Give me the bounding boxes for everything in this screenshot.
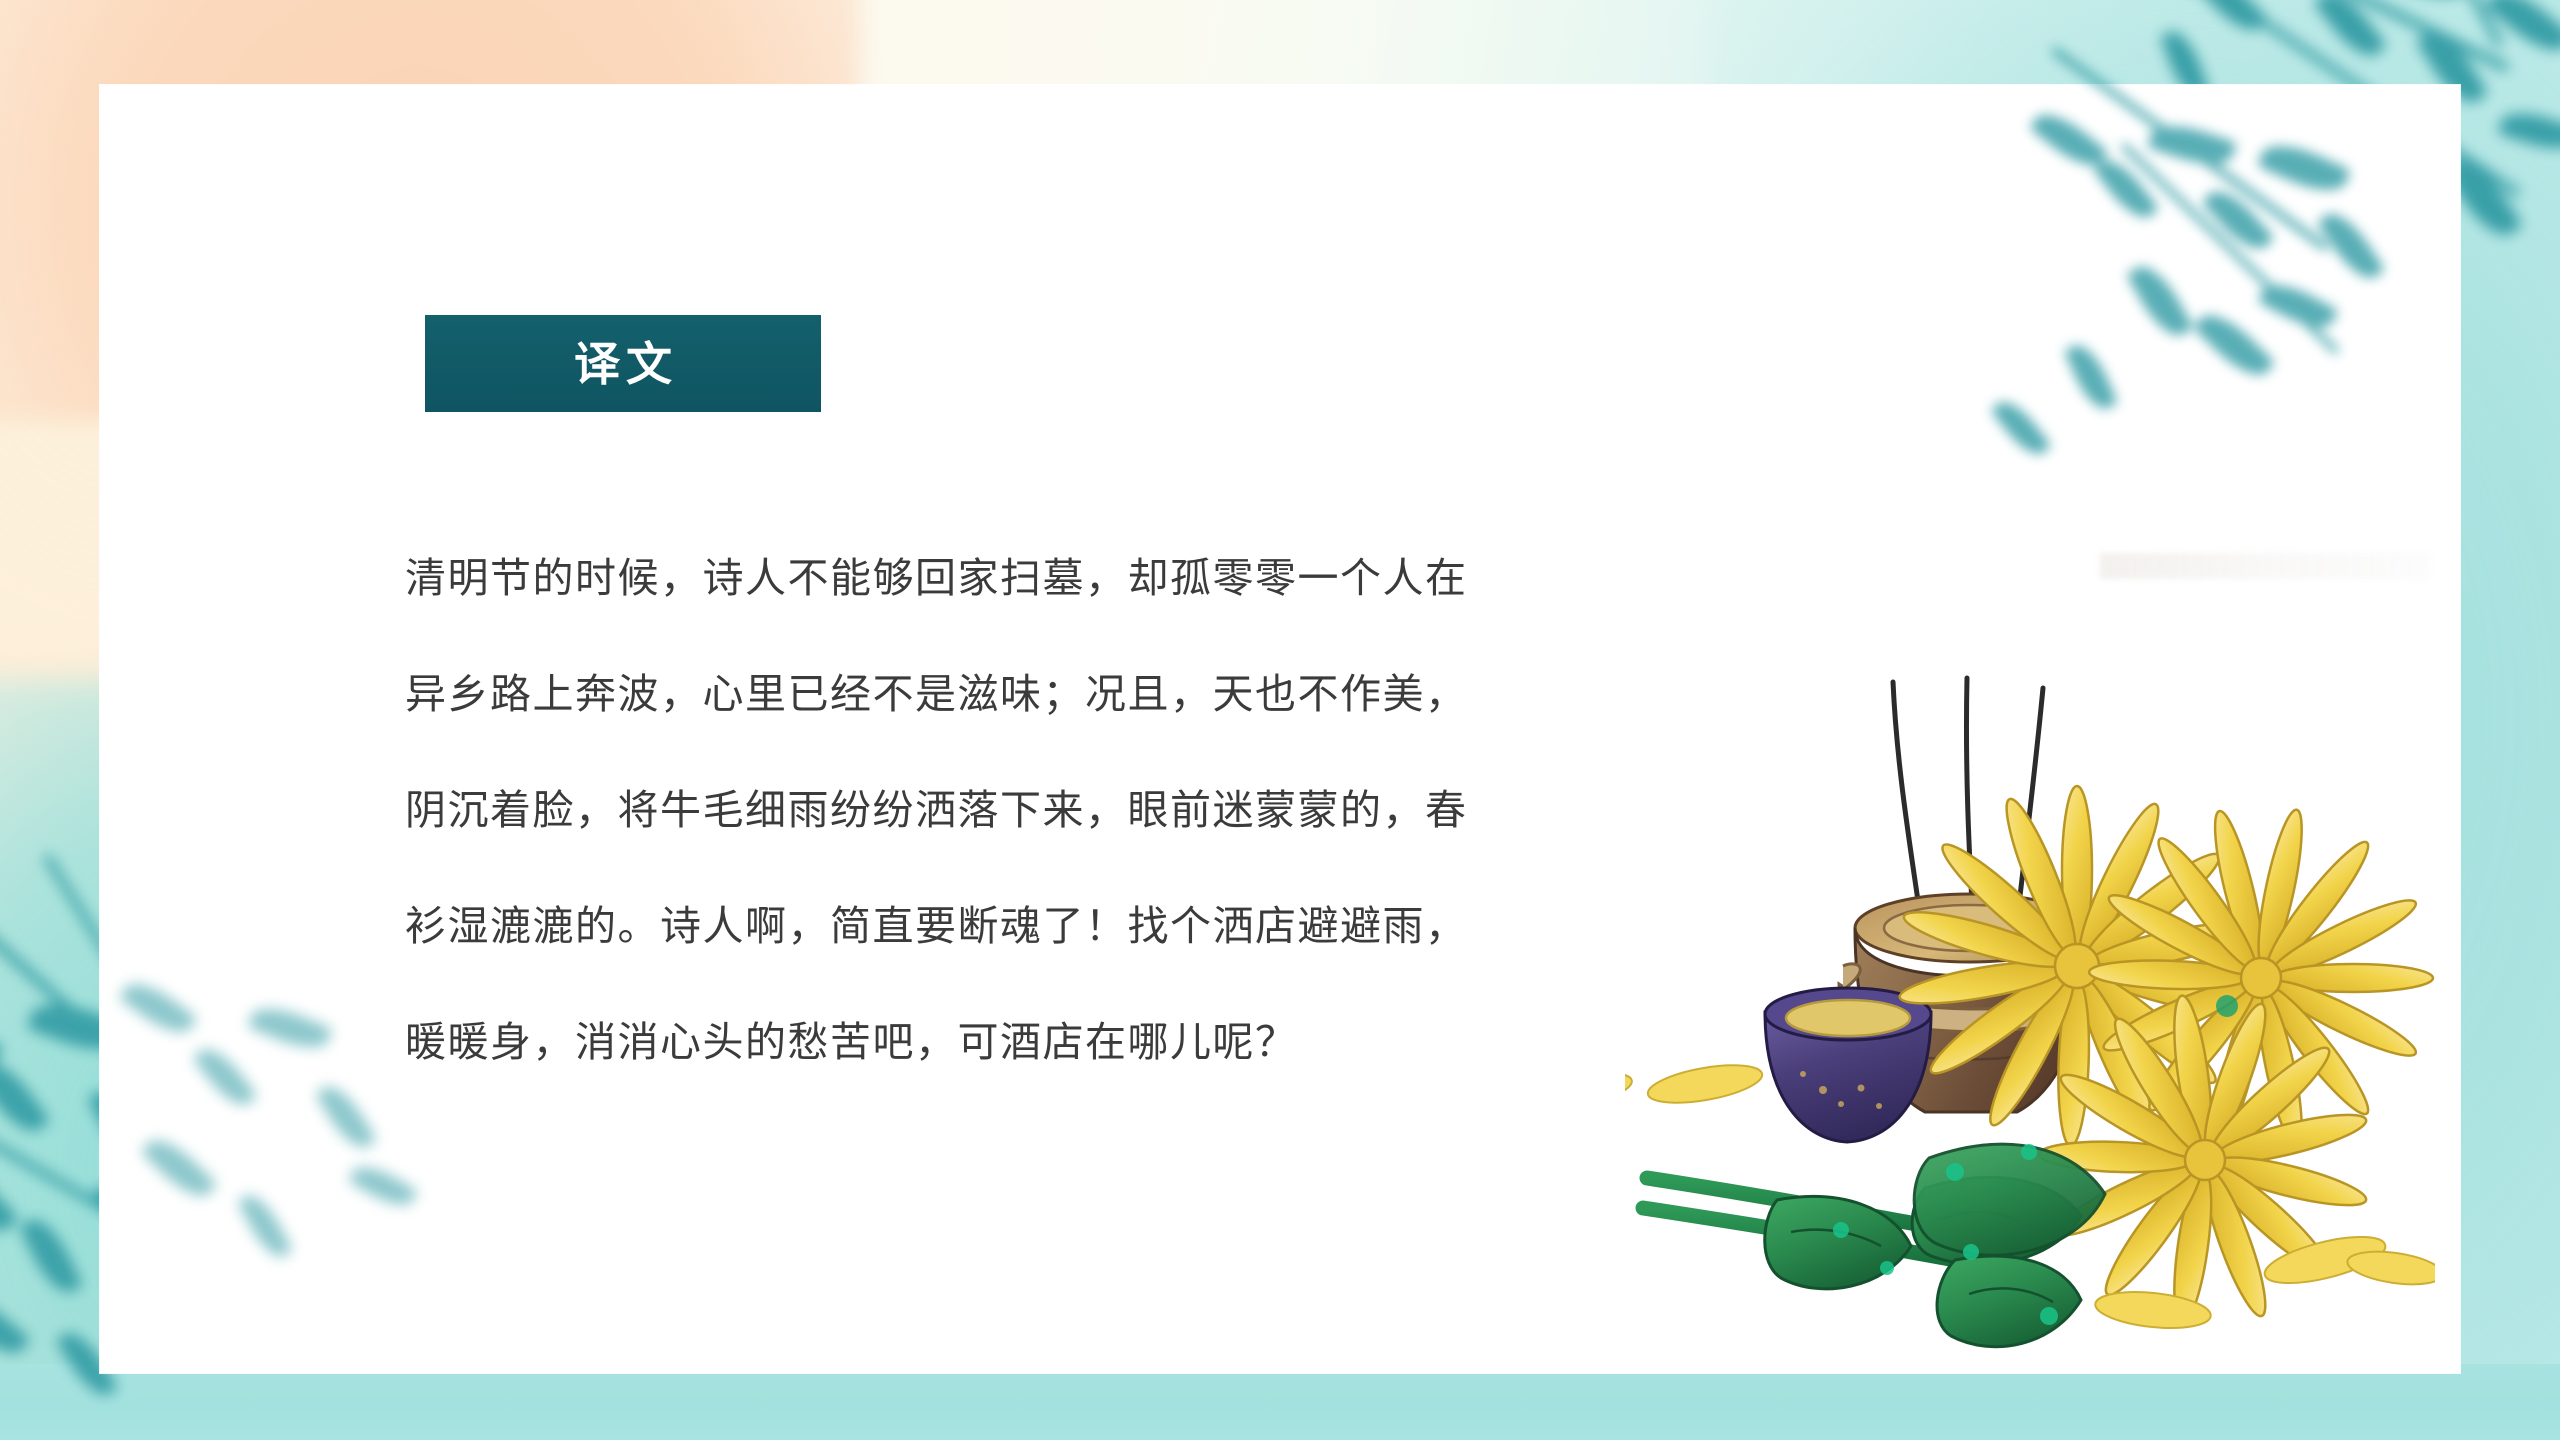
section-title-badge: 译文 [425,315,821,412]
paragraph-line: 暖暖身，消消心头的愁苦吧，可酒店在哪儿呢？ [405,984,1695,1100]
translation-paragraph: 清明节的时候，诗人不能够回家扫墓，却孤零零一个人在 异乡路上奔波，心里已经不是滋… [405,520,1695,1100]
paragraph-line: 阴沉着脸，将牛毛细雨纷纷洒落下来，眼前迷蒙蒙的，春 [405,752,1695,868]
offering-bowl [1765,988,1931,1142]
foliage-overlay-card-top-right [1960,115,2430,525]
slide-root: 译文 清明节的时候，诗人不能够回家扫墓，却孤零零一个人在 异乡路上奔波，心里已经… [0,0,2560,1440]
section-title-label: 译文 [568,341,678,387]
background-bottom-band [0,1364,2560,1440]
paragraph-line: 异乡路上奔波，心里已经不是滋味；况且，天也不作美， [405,636,1695,752]
watermark-smudge [2100,553,2430,579]
paragraph-line: 衫湿漉漉的。诗人啊，简直要断魂了！找个洒店避避雨， [405,868,1695,984]
paragraph-line: 清明节的时候，诗人不能够回家扫墓，却孤零零一个人在 [405,520,1695,636]
qingming-illustration [1625,660,2435,1360]
